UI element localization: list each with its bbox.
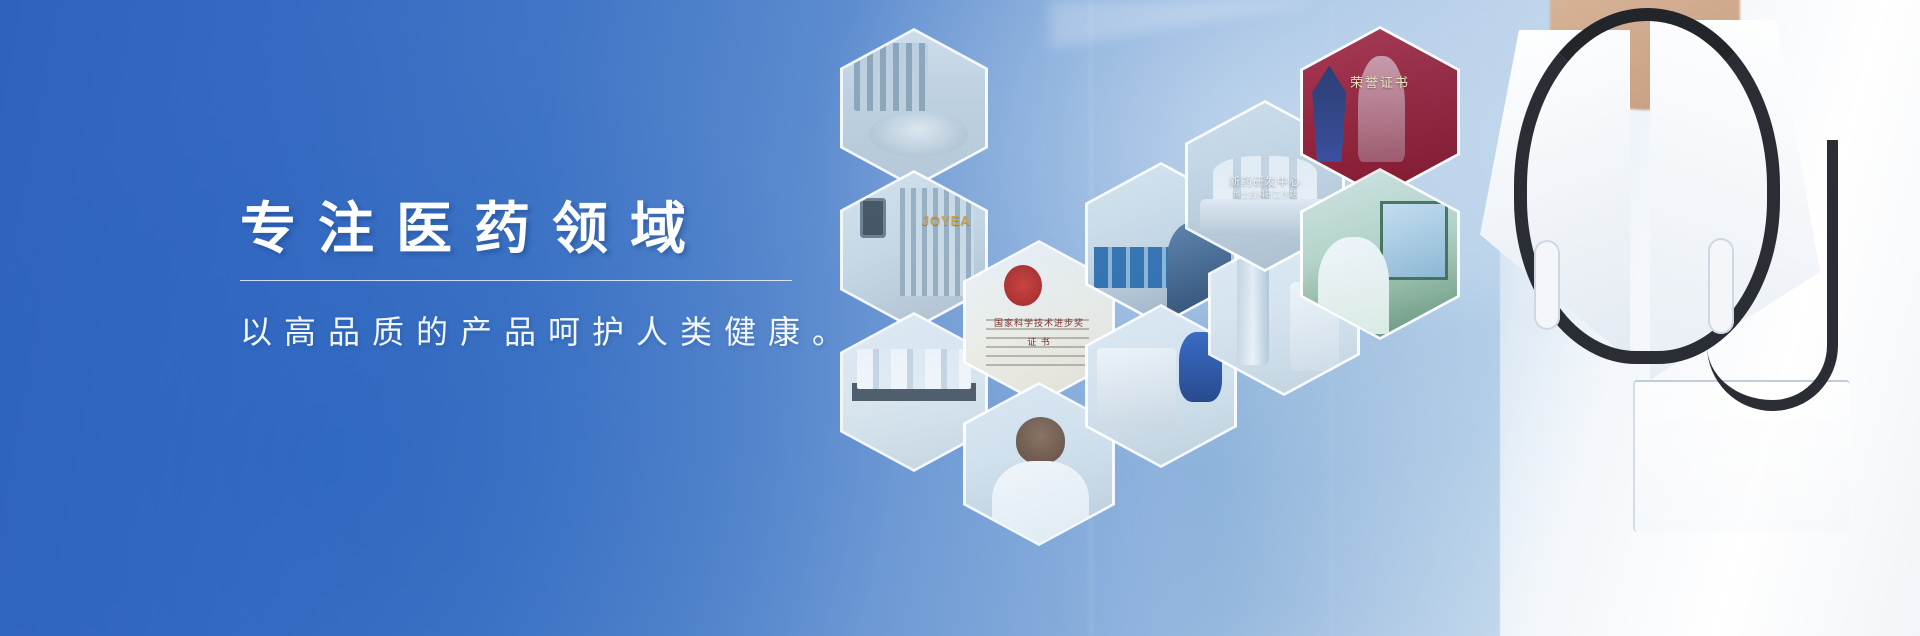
certificate-title: 国家科学技术进步奖	[966, 316, 1112, 329]
doctor-with-stethoscope	[1370, 0, 1920, 636]
stethoscope-earpiece-right	[1708, 238, 1734, 334]
joyea-brand-label: JOYEA	[922, 213, 971, 228]
stethoscope-earpiece-left	[1534, 240, 1560, 330]
hexagon-capsule-filling-machine[interactable]	[843, 31, 985, 185]
hex-frame	[840, 28, 988, 188]
hero-banner: 专注医药领域 以高品质的产品呵护人类健康。 JOYEA	[0, 0, 1920, 636]
